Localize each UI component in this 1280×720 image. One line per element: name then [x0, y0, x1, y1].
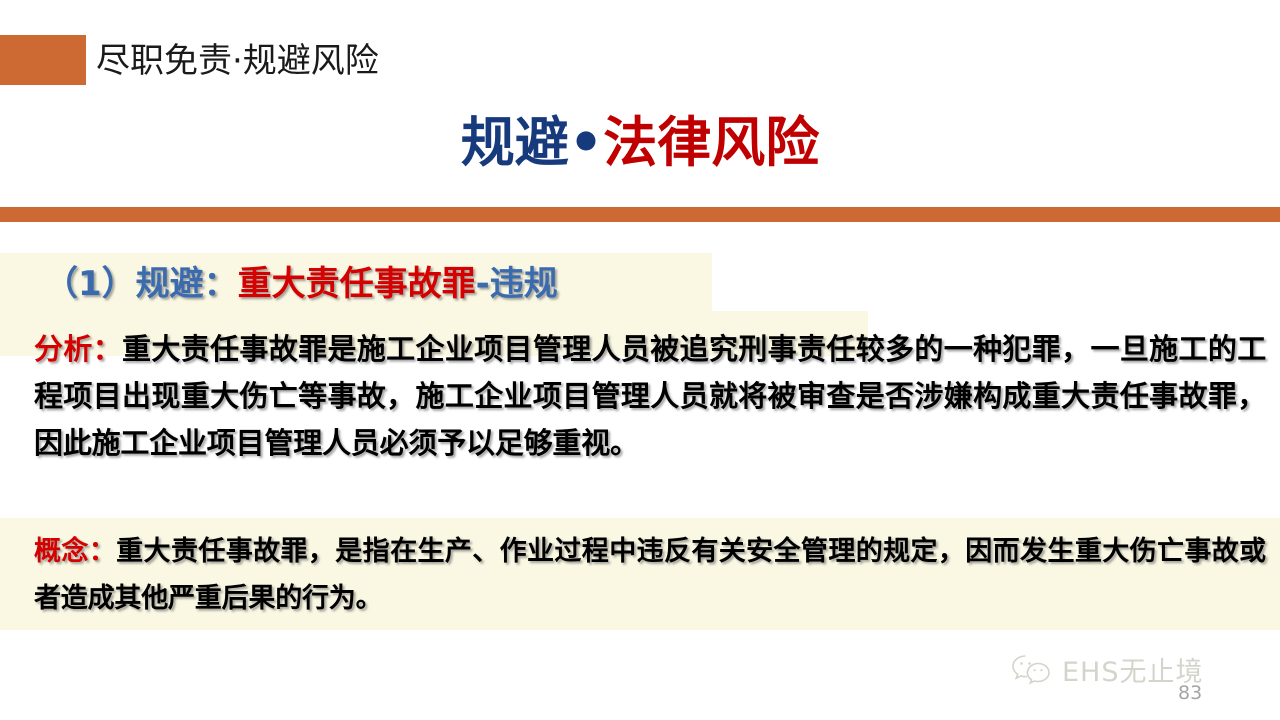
header-accent-block [0, 35, 86, 85]
concept-label: 概念： [34, 536, 116, 567]
page-title: 规避•法律风险 [0, 106, 1280, 180]
page-title-red-part: 法律风险 [603, 111, 819, 174]
orange-divider [0, 207, 1280, 222]
section-heading-emphasis: 重大责任事故罪 [238, 264, 476, 304]
analysis-paragraph: 分析：重大责任事故罪是施工企业项目管理人员被追究刑事责任较多的一种犯罪，一旦施工… [34, 326, 1266, 467]
section-heading: （1）规避：重大责任事故罪-违规 [44, 262, 558, 306]
concept-text: 重大责任事故罪，是指在生产、作业过程中违反有关安全管理的规定，因而发生重大伤亡事… [34, 536, 1266, 614]
page-number: 83 [1178, 682, 1202, 704]
header-title: 尽职免责·规避风险 [96, 36, 379, 86]
wechat-icon [1010, 653, 1054, 687]
section-heading-suffix: -违规 [476, 264, 558, 304]
page-title-blue-part: 规避• [461, 111, 604, 174]
concept-paragraph: 概念：重大责任事故罪，是指在生产、作业过程中违反有关安全管理的规定，因而发生重大… [34, 528, 1266, 622]
section-heading-prefix: （1）规避： [44, 264, 238, 304]
watermark: EHS无止境 [1010, 650, 1204, 689]
analysis-text: 重大责任事故罪是施工企业项目管理人员被追究刑事责任较多的一种犯罪，一旦施工的工程… [34, 332, 1266, 460]
analysis-label: 分析： [34, 332, 122, 366]
